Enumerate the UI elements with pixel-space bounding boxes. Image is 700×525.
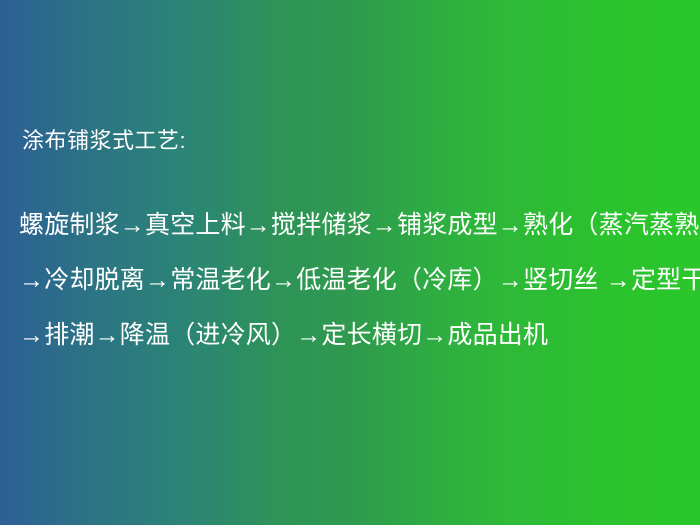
process-flow-text-block: 螺旋制浆→真空上料→搅拌储浆→铺浆成型→熟化（蒸汽蒸熟） →冷却脱离→常温老化→… — [19, 198, 689, 363]
process-flow-line-2: →冷却脱离→常温老化→低温老化（冷库）→竖切丝 →定型干燥 — [19, 253, 689, 308]
process-flow-line-3: →排潮→降温（进冷风）→定长横切→成品出机 — [19, 308, 689, 363]
page-title: 涂布铺浆式工艺: — [22, 126, 186, 156]
slide-canvas: 涂布铺浆式工艺: 螺旋制浆→真空上料→搅拌储浆→铺浆成型→熟化（蒸汽蒸熟） →冷… — [0, 0, 700, 525]
process-flow-line-1: 螺旋制浆→真空上料→搅拌储浆→铺浆成型→熟化（蒸汽蒸熟） — [19, 198, 689, 253]
slide-content: 涂布铺浆式工艺: 螺旋制浆→真空上料→搅拌储浆→铺浆成型→熟化（蒸汽蒸熟） →冷… — [0, 0, 700, 525]
